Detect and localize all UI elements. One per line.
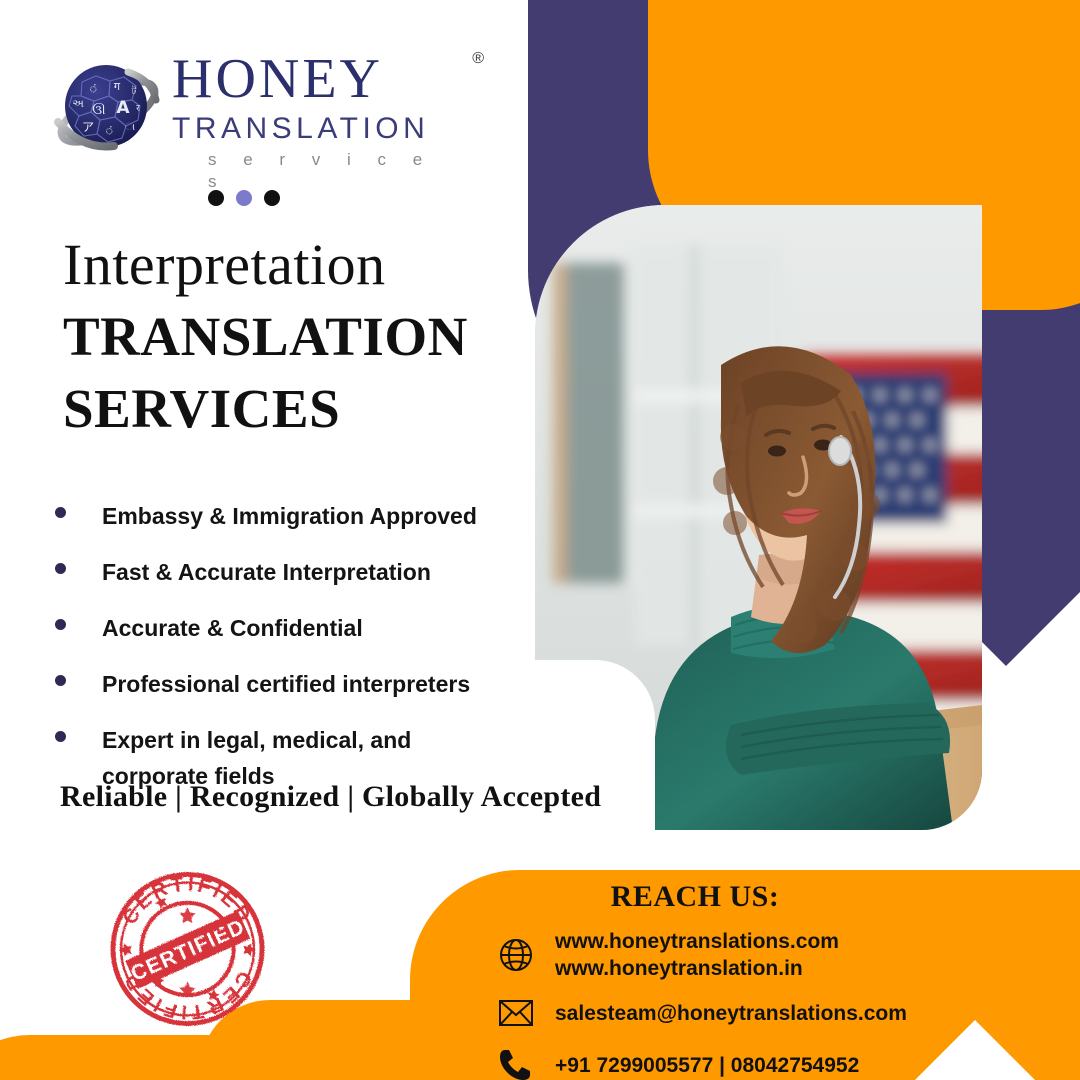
poster-canvas: ் ग ট અ ઊ A र ア ் ા HONEY® TRANSLATION <box>0 0 1080 1080</box>
bullet-icon <box>55 619 66 630</box>
website-line-2[interactable]: www.honeytranslation.in <box>555 957 803 980</box>
phone-icon <box>495 1044 537 1080</box>
svg-text:ग: ग <box>114 80 121 93</box>
logo-line-translation: TRANSLATION <box>172 112 462 146</box>
feature-text: Fast & Accurate Interpretation <box>102 554 431 590</box>
feature-text: Accurate & Confidential <box>102 610 363 646</box>
dot-icon-2 <box>236 190 252 206</box>
bullet-icon <box>55 563 66 574</box>
decorative-dots <box>208 190 280 206</box>
certified-stamp-svg: CERTIFIED CERTIFIED CERTIFIED <box>105 868 270 1030</box>
contact-heading: REACH US: <box>440 880 950 914</box>
list-item: Accurate & Confidential <box>55 610 525 646</box>
list-item: Professional certified interpreters <box>55 666 525 702</box>
headline-bold-line-1: TRANSLATION <box>63 304 533 370</box>
logo-line-services: s e r v i c e s <box>208 149 462 193</box>
registered-trademark-icon: ® <box>472 50 484 68</box>
bullet-icon <box>55 507 66 518</box>
contact-email-text[interactable]: salesteam@honeytranslations.com <box>555 1000 907 1027</box>
contact-section: REACH US: www.honeytranslations.com www.… <box>440 880 1060 1080</box>
logo-name: HONEY <box>172 48 383 110</box>
svg-text:ア: ア <box>82 120 94 134</box>
globe-icon-svg <box>498 937 534 973</box>
website-line-1[interactable]: www.honeytranslations.com <box>555 930 839 953</box>
contact-website-text[interactable]: www.honeytranslations.com www.honeytrans… <box>555 928 839 982</box>
globe-icon <box>495 934 537 976</box>
contact-phone-text[interactable]: +91 7299005577 | 08042754952 <box>555 1052 859 1079</box>
envelope-icon <box>495 992 537 1034</box>
dot-icon-1 <box>208 190 224 206</box>
list-item: Embassy & Immigration Approved <box>55 498 525 534</box>
svg-text:અ: અ <box>72 97 84 110</box>
company-logo[interactable]: ் ग ট અ ઊ A र ア ் ા HONEY® TRANSLATION <box>52 48 412 178</box>
bullet-icon <box>55 731 66 742</box>
logo-wordmark: HONEY® TRANSLATION s e r v i c e s <box>172 48 462 193</box>
dot-icon-3 <box>264 190 280 206</box>
envelope-icon-svg <box>498 998 534 1028</box>
svg-text:A: A <box>116 98 130 118</box>
bullet-icon <box>55 675 66 686</box>
globe-icon-svg: ் ग ট અ ઊ A र ア ் ા <box>52 54 164 166</box>
contact-row-email[interactable]: salesteam@honeytranslations.com <box>440 992 1060 1034</box>
headline-script-line: Interpretation <box>63 232 533 298</box>
svg-text:ા: ા <box>125 122 136 133</box>
feature-text: Embassy & Immigration Approved <box>102 498 477 534</box>
headline-bold-line-2: SERVICES <box>63 376 533 442</box>
contact-row-phone[interactable]: +91 7299005577 | 08042754952 <box>440 1044 1060 1080</box>
tagline: Reliable | Recognized | Globally Accepte… <box>60 780 601 814</box>
svg-text:ઊ: ઊ <box>92 102 105 118</box>
page-title: Interpretation TRANSLATION SERVICES <box>63 232 533 442</box>
globe-logo-icon: ் ग ট અ ઊ A र ア ் ા <box>52 54 164 166</box>
svg-text:र: र <box>136 104 140 114</box>
contact-row-website[interactable]: www.honeytranslations.com www.honeytrans… <box>440 928 1060 982</box>
phone-icon-svg <box>499 1048 533 1080</box>
feature-list: Embassy & Immigration Approved Fast & Ac… <box>55 498 525 814</box>
svg-text:்: ் <box>105 124 115 137</box>
svg-text:்: ் <box>89 82 99 95</box>
feature-text: Professional certified interpreters <box>102 666 470 702</box>
certified-stamp-badge: CERTIFIED CERTIFIED CERTIFIED <box>105 868 270 1030</box>
list-item: Fast & Accurate Interpretation <box>55 554 525 590</box>
